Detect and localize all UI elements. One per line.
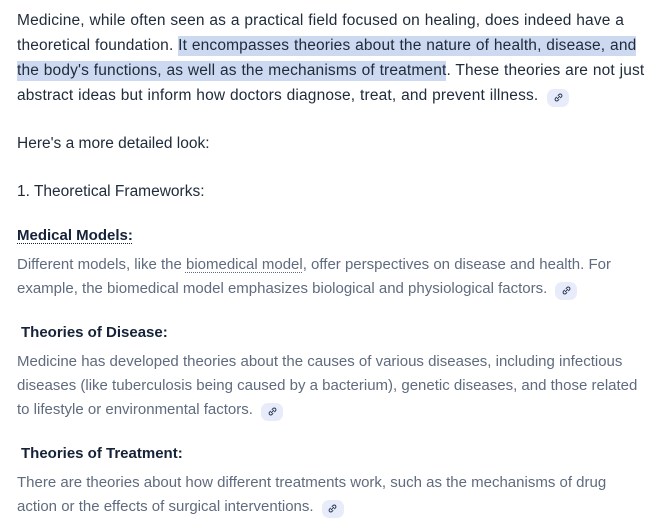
intro-paragraph: Medicine, while often seen as a practica… bbox=[17, 8, 647, 108]
body-text-before-link: Different models, like the bbox=[17, 256, 186, 273]
link-icon[interactable] bbox=[547, 89, 569, 107]
link-icon[interactable] bbox=[555, 282, 577, 300]
link-icon[interactable] bbox=[261, 403, 283, 421]
body-theories-of-disease: Medicine has developed theories about th… bbox=[17, 344, 647, 422]
link-icon[interactable] bbox=[322, 500, 344, 518]
body-text: Medicine has developed theories about th… bbox=[17, 353, 637, 418]
subheading-theories-of-treatment: Theories of Treatment: bbox=[17, 422, 647, 465]
lead-line: Here's a more detailed look: bbox=[17, 108, 647, 156]
inline-link-biomedical-model[interactable]: biomedical model bbox=[186, 256, 303, 273]
body-theories-of-treatment: There are theories about how different t… bbox=[17, 465, 647, 519]
section-heading-1: 1. Theoretical Frameworks: bbox=[17, 156, 647, 204]
subheading-theories-of-disease: Theories of Disease: bbox=[17, 301, 647, 344]
subheading-medical-models: Medical Models: bbox=[17, 204, 647, 247]
document-page: Medicine, while often seen as a practica… bbox=[0, 0, 665, 525]
body-medical-models: Different models, like the biomedical mo… bbox=[17, 247, 647, 301]
body-text: There are theories about how different t… bbox=[17, 474, 606, 515]
